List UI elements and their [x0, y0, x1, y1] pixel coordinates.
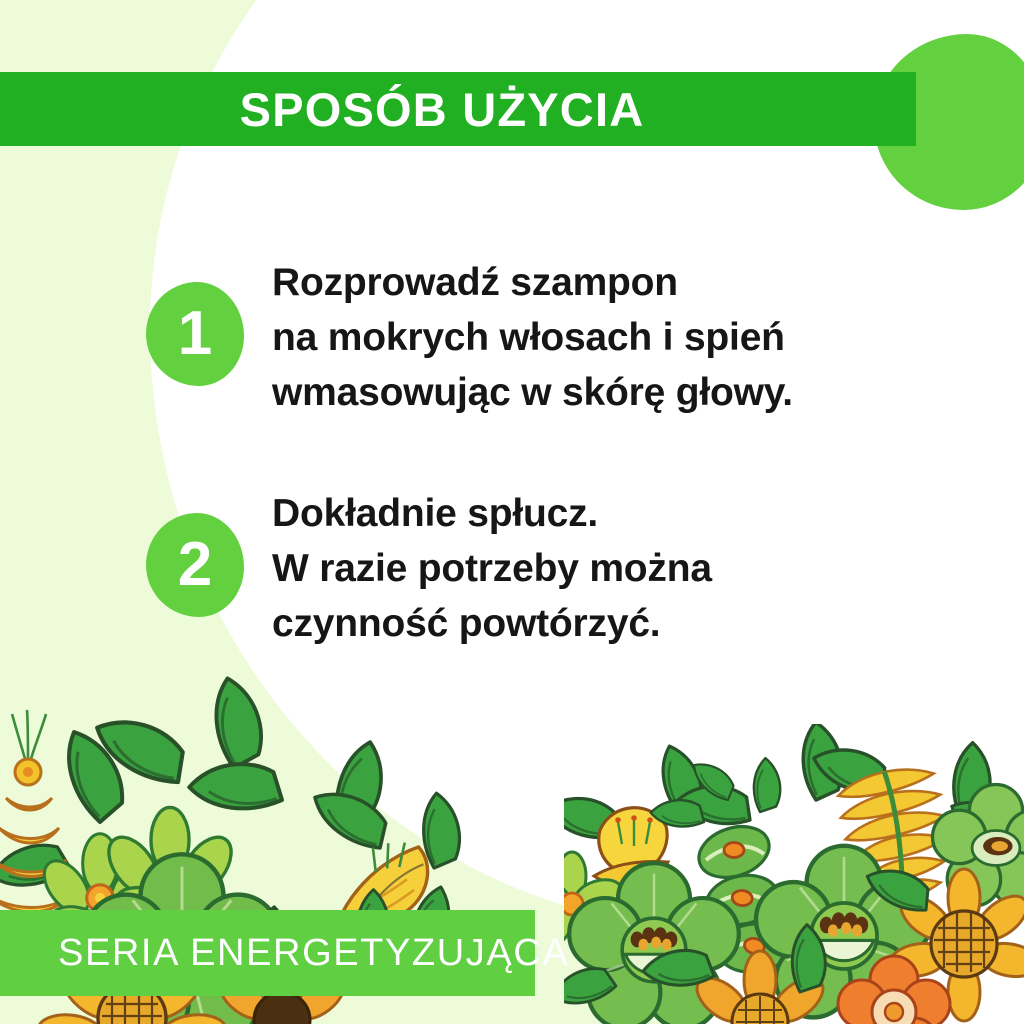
- instruction-poster: SPOSÓB UŻYCIA 1 Rozprowadź szampon na mo…: [0, 0, 1024, 1024]
- list-item: 2 Dokładnie spłucz. W razie potrzeby moż…: [0, 479, 1024, 652]
- step-number-badge-1: 1: [146, 282, 244, 386]
- steps-list: 1 Rozprowadź szampon na mokrych włosach …: [0, 248, 1024, 710]
- header-banner: SPOSÓB UŻYCIA: [0, 72, 916, 146]
- footer-banner: SERIA ENERGETYZUJĄCA: [0, 910, 535, 996]
- step-text-1: Rozprowadź szampon na mokrych włosach i …: [272, 256, 793, 421]
- step-text-2: Dokładnie spłucz. W razie potrzeby można…: [272, 487, 712, 652]
- list-item: 1 Rozprowadź szampon na mokrych włosach …: [0, 248, 1024, 421]
- page-title: SPOSÓB UŻYCIA: [240, 86, 671, 133]
- step-number-badge-2: 2: [146, 513, 244, 617]
- footer-title: SERIA ENERGETYZUJĄCA: [0, 932, 569, 975]
